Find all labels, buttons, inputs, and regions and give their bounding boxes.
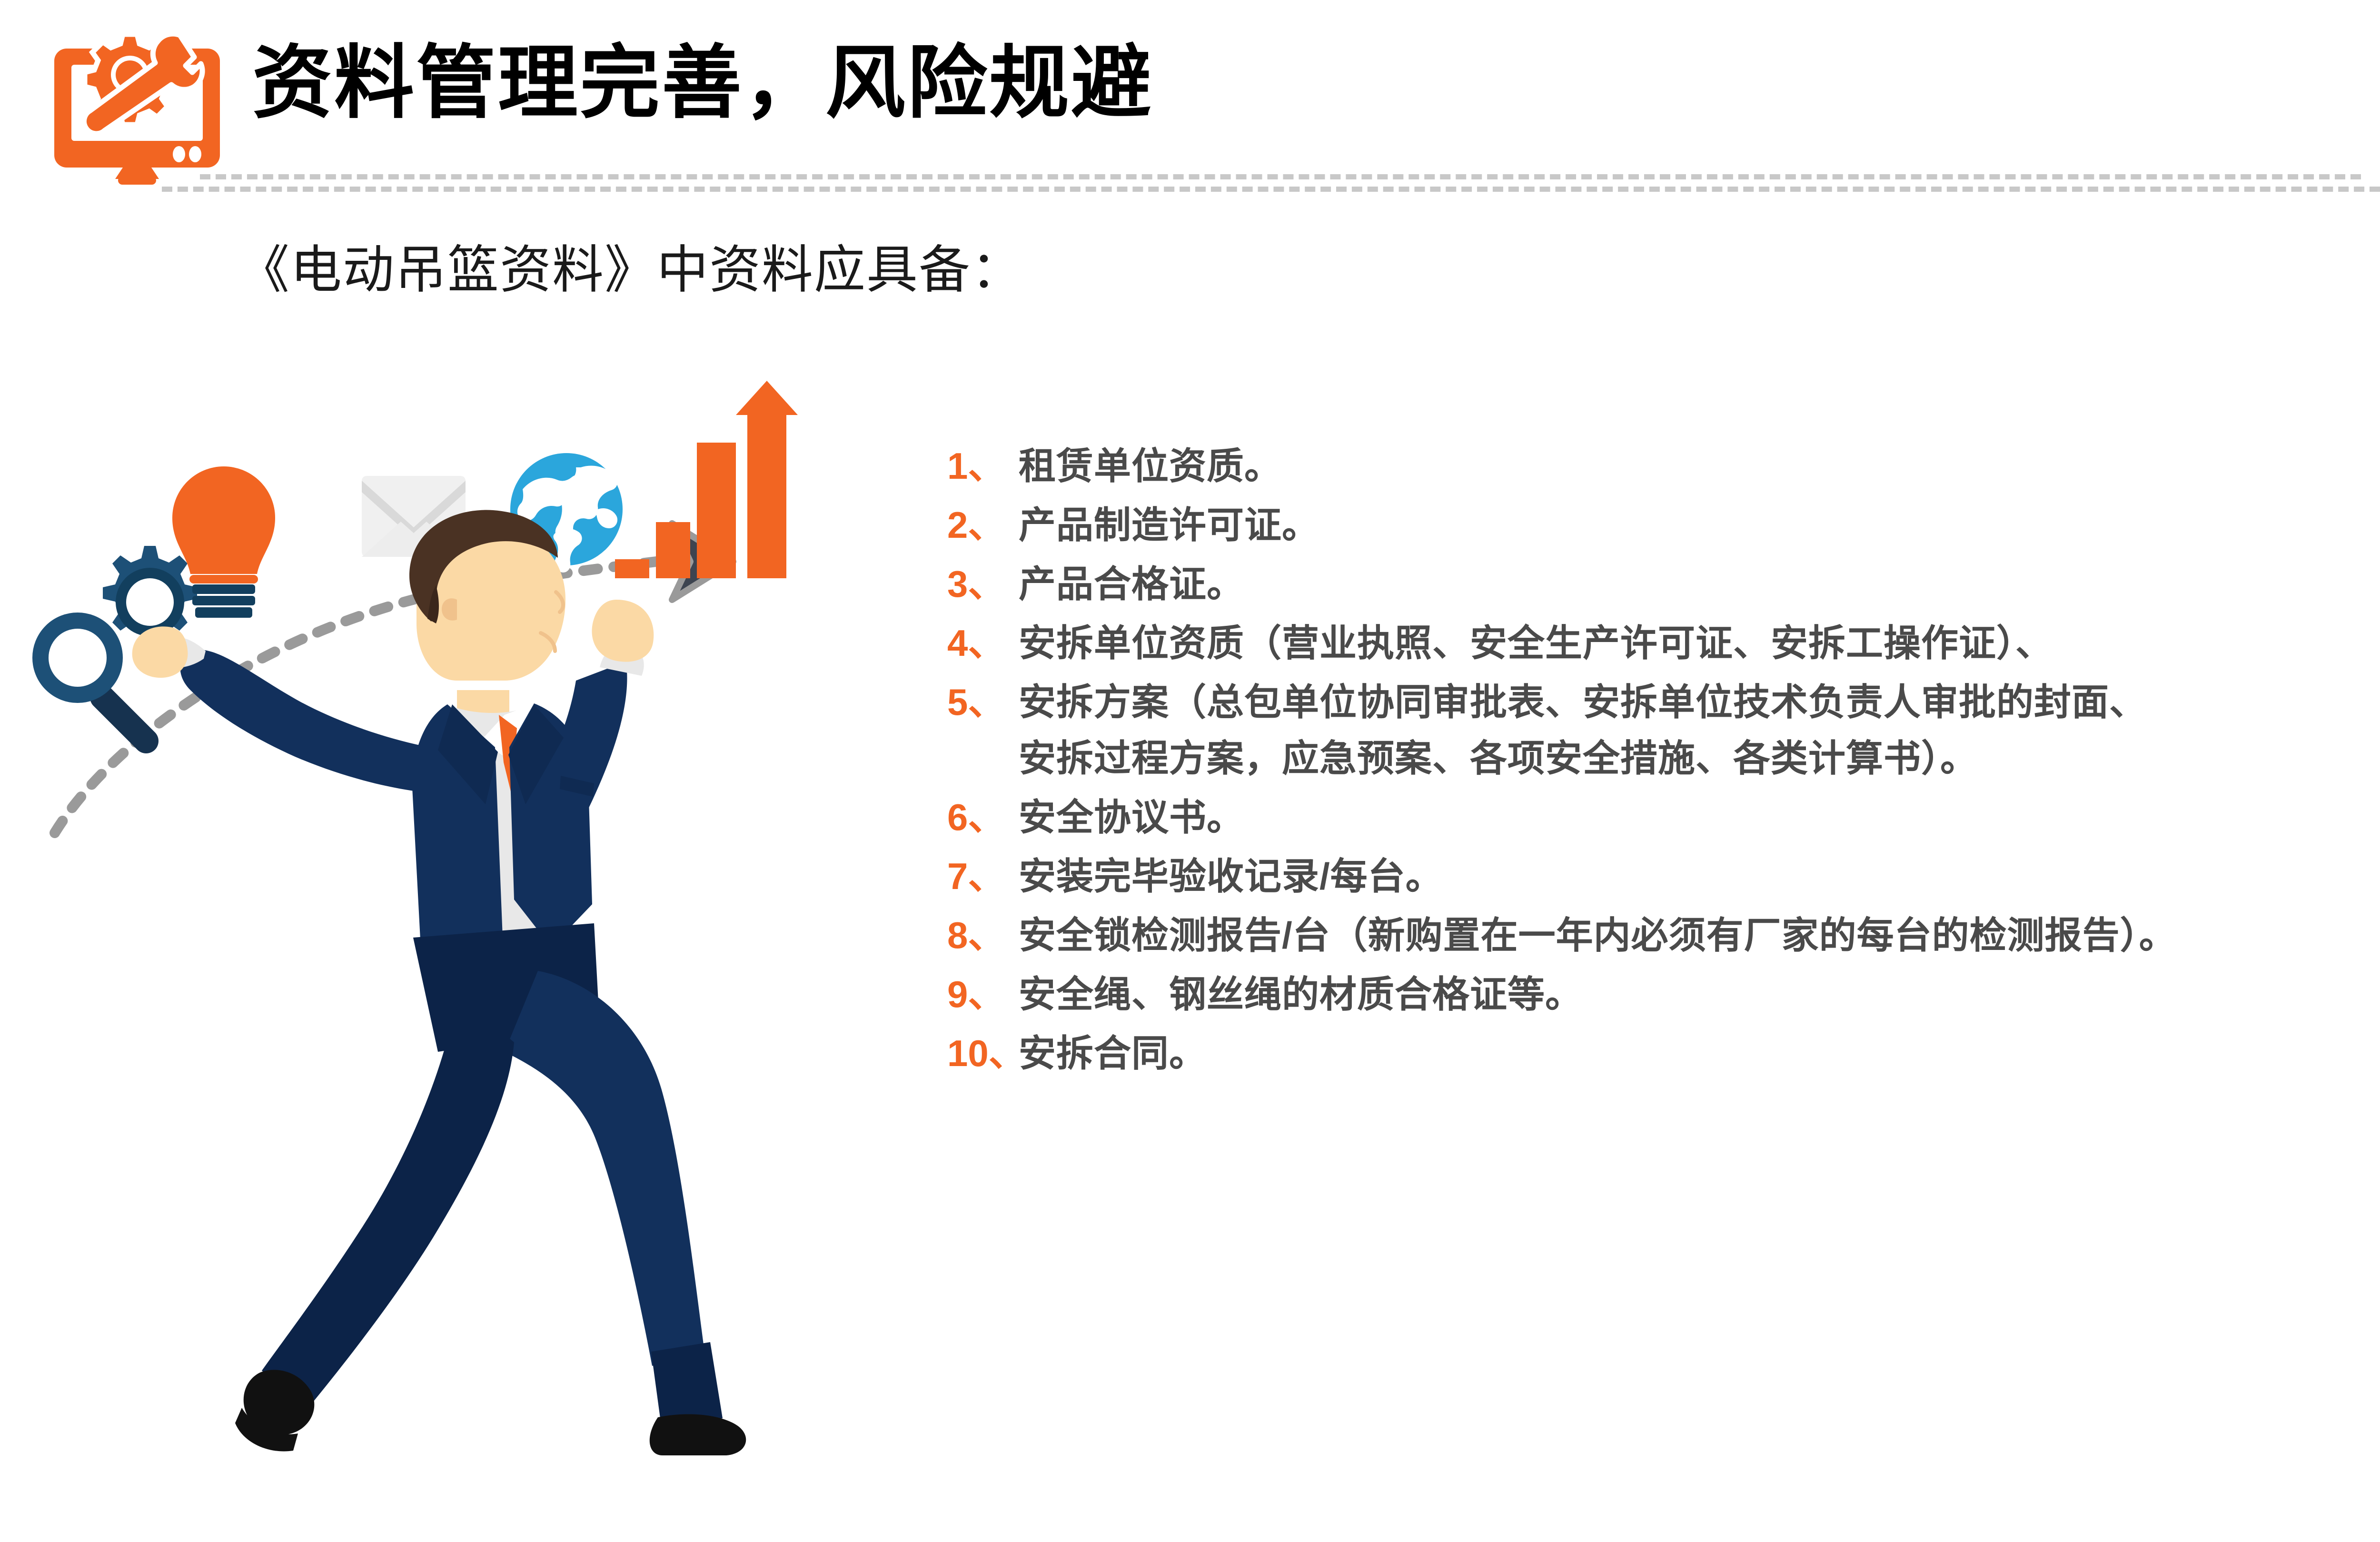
bar-chart-arrow-icon — [615, 381, 798, 578]
header-divider-bottom — [162, 187, 2380, 192]
list-item-text: 安全绳、钢丝绳的材质合格证等。 — [1019, 966, 2380, 1022]
list-item-text: 安全协议书。 — [1019, 789, 2380, 845]
section-subtitle: 《电动吊篮资料》中资料应具备： — [238, 228, 1023, 303]
magnifier-icon — [40, 621, 146, 741]
list-item: 1、 租赁单位资质。 — [947, 438, 2380, 494]
list-item-text: 租赁单位资质。 — [1019, 438, 2380, 494]
list-item-text: 产品合格证。 — [1019, 556, 2380, 612]
list-item-text: 安拆单位资质（营业执照、安全生产许可证、安拆工操作证）、 — [1019, 615, 2380, 671]
list-item-number: 2、 — [947, 497, 1019, 553]
list-item: 8、 安全锁检测报告/台（新购置在一年内必须有厂家的每台的检测报告）。 — [947, 907, 2380, 963]
list-item: 7、 安装完毕验收记录/每台。 — [947, 848, 2380, 904]
list-item-text: 产品制造许可证。 — [1019, 497, 2380, 553]
list-item-number: 1、 — [947, 438, 1019, 494]
monitor-gear-wrench-icon — [51, 30, 223, 187]
document-requirements-list: 1、 租赁单位资质。 2、 产品制造许可证。 3、 产品合格证。 4、 安拆单位… — [947, 438, 2380, 1084]
page-header: 资料管理完善，风险规避 — [0, 0, 2380, 190]
list-item-number: 7、 — [947, 848, 1019, 904]
list-item-text: 安装完毕验收记录/每台。 — [1019, 848, 2380, 904]
list-item: 6、 安全协议书。 — [947, 789, 2380, 845]
list-item-text: 安拆方案（总包单位协同审批表、安拆单位技术负责人审批的封面、 安拆过程方案，应急… — [1019, 674, 2380, 786]
list-item-number: 6、 — [947, 789, 1019, 845]
list-item-text: 安拆合同。 — [1019, 1025, 2380, 1081]
list-item-number: 10、 — [947, 1025, 1019, 1081]
list-item-number: 9、 — [947, 966, 1019, 1022]
list-item-number: 8、 — [947, 907, 1019, 963]
businessman-success-illustration — [29, 376, 866, 1518]
list-item-number: 5、 — [947, 674, 1019, 730]
gear-icon — [103, 546, 197, 640]
list-item: 5、 安拆方案（总包单位协同审批表、安拆单位技术负责人审批的封面、 安拆过程方案… — [947, 674, 2380, 786]
list-item: 2、 产品制造许可证。 — [947, 497, 2380, 553]
list-item-number: 3、 — [947, 556, 1019, 612]
list-item: 10、 安拆合同。 — [947, 1025, 2380, 1081]
list-item-text: 安全锁检测报告/台（新购置在一年内必须有厂家的每台的检测报告）。 — [1019, 907, 2380, 963]
list-item: 4、 安拆单位资质（营业执照、安全生产许可证、安拆工操作证）、 — [947, 615, 2380, 671]
list-item: 9、 安全绳、钢丝绳的材质合格证等。 — [947, 966, 2380, 1022]
list-item-number: 4、 — [947, 615, 1019, 671]
list-item: 3、 产品合格证。 — [947, 556, 2380, 612]
page-title: 资料管理完善，风险规避 — [252, 37, 1153, 129]
businessman-figure — [132, 510, 746, 1455]
header-divider-top — [200, 174, 2361, 179]
